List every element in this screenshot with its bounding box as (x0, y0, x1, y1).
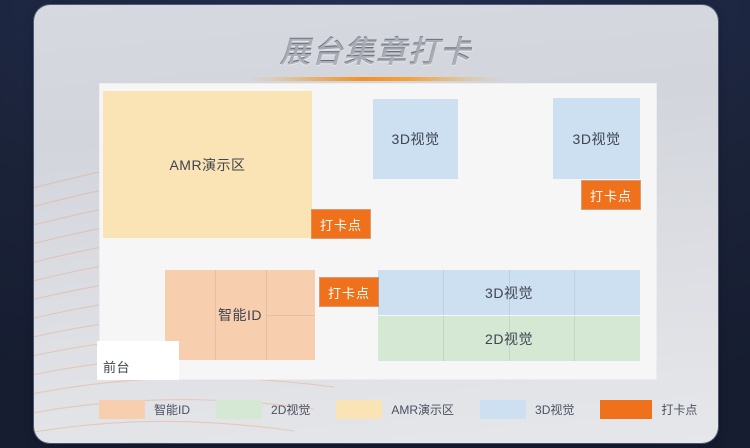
zone-3d-vision-bottom-bar[interactable]: 3D视觉 (378, 270, 640, 315)
checkpoint-label: 打卡点 (320, 215, 362, 234)
checkpoint-amr[interactable]: 打卡点 (312, 210, 370, 238)
zone-divider-vertical (215, 270, 216, 360)
legend-item-3d-vision: 3D视觉 (480, 400, 574, 419)
zone-divider-vertical (443, 316, 444, 361)
page-background: 展台集章打卡 AMR演示区 3D视觉 3D视觉 智能ID (0, 0, 750, 448)
checkpoint-label: 打卡点 (590, 186, 632, 205)
zone-label: 3D视觉 (485, 283, 533, 303)
checkpoint-3d-right[interactable]: 打卡点 (582, 181, 640, 209)
legend: 智能ID 2D视觉 AMR演示区 3D视觉 打卡点 (99, 398, 657, 420)
legend-swatch-icon (600, 400, 652, 419)
legend-swatch-icon (336, 400, 382, 419)
main-card: 展台集章打卡 AMR演示区 3D视觉 3D视觉 智能ID (34, 5, 718, 443)
title-underline (248, 77, 504, 81)
zone-label: 智能ID (218, 305, 262, 325)
zone-label: AMR演示区 (169, 155, 245, 175)
legend-label: 2D视觉 (271, 401, 310, 418)
zone-divider-vertical (574, 270, 575, 315)
legend-label: 打卡点 (661, 401, 697, 418)
zone-3d-vision-top-left[interactable]: 3D视觉 (373, 99, 458, 179)
zone-smart-id[interactable]: 智能ID (165, 270, 315, 360)
zone-3d-vision-top-right[interactable]: 3D视觉 (553, 98, 640, 179)
legend-label: 智能ID (154, 401, 190, 418)
title-block: 展台集章打卡 (34, 27, 718, 81)
checkpoint-label: 打卡点 (328, 283, 370, 302)
legend-swatch-icon (99, 400, 145, 419)
legend-item-smart-id: 智能ID (99, 400, 190, 419)
zone-amr-demo[interactable]: AMR演示区 (103, 91, 312, 238)
zone-2d-vision-bottom-bar[interactable]: 2D视觉 (378, 316, 640, 361)
legend-item-2d-vision: 2D视觉 (216, 400, 310, 419)
checkpoint-smart-id[interactable]: 打卡点 (320, 278, 378, 306)
legend-swatch-icon (480, 400, 526, 419)
zone-label: 3D视觉 (392, 129, 440, 149)
zone-divider-horizontal (266, 315, 315, 316)
zone-divider-vertical (443, 270, 444, 315)
reception-label: 前台 (103, 357, 130, 376)
legend-swatch-icon (216, 400, 262, 419)
zone-label: 2D视觉 (485, 329, 533, 349)
legend-item-amr-demo: AMR演示区 (336, 400, 454, 419)
zone-divider-vertical (574, 316, 575, 361)
legend-label: AMR演示区 (391, 401, 454, 418)
reception-notch (141, 341, 179, 363)
zone-label: 3D视觉 (573, 129, 621, 149)
floor-plan: AMR演示区 3D视觉 3D视觉 智能ID 3D视觉 (99, 83, 657, 380)
legend-label: 3D视觉 (535, 401, 574, 418)
page-title: 展台集章打卡 (280, 27, 472, 71)
legend-item-checkpoint: 打卡点 (600, 400, 697, 419)
reception-area: 前台 (97, 341, 179, 380)
